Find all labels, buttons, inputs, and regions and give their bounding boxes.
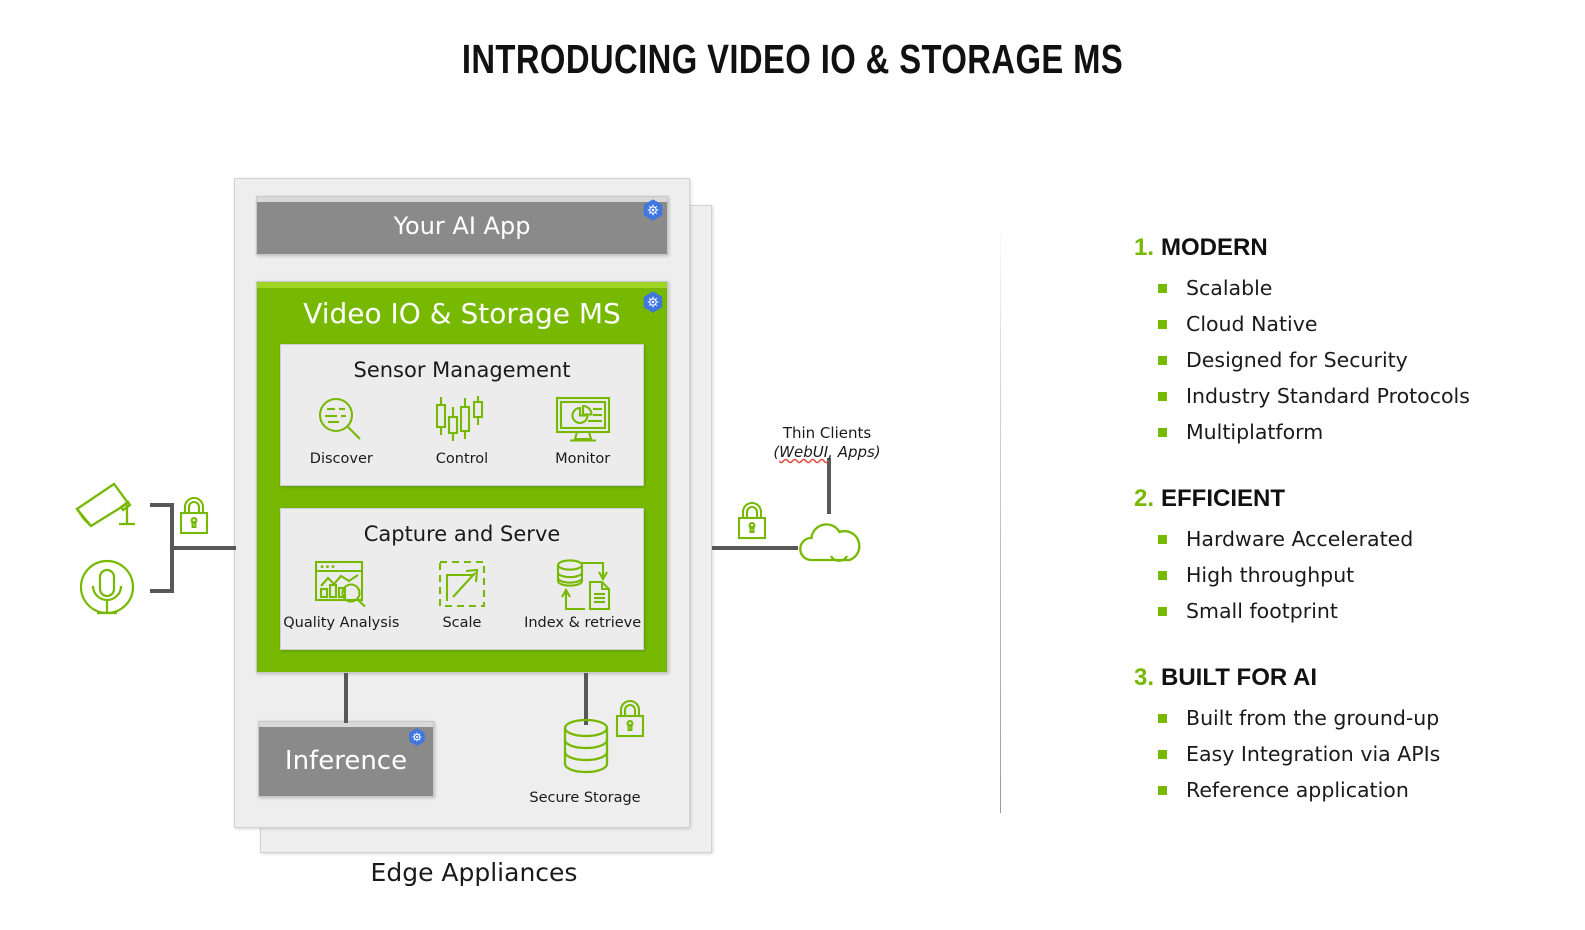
feature-heading-3: 3.BUILT FOR AI bbox=[1134, 666, 1564, 690]
features-column: 1.MODERN Scalable Cloud Native Designed … bbox=[1134, 236, 1564, 808]
list-item-label: Multiplatform bbox=[1186, 420, 1323, 444]
thin-clients-line1: Thin Clients bbox=[727, 424, 927, 443]
connector-inference bbox=[344, 673, 348, 723]
list-item-label: Hardware Accelerated bbox=[1186, 527, 1413, 551]
padlock-icon-storage bbox=[612, 698, 648, 744]
bullet-icon bbox=[1158, 428, 1167, 437]
feature-list-1: Scalable Cloud Native Designed for Secur… bbox=[1134, 270, 1564, 450]
feature-number-3: 3. bbox=[1134, 664, 1154, 691]
feature-label: Index & retrieve bbox=[524, 615, 641, 631]
list-item: Cloud Native bbox=[1134, 306, 1564, 342]
spacer bbox=[1134, 629, 1564, 666]
feature-heading-1: 1.MODERN bbox=[1134, 236, 1564, 260]
list-item: Hardware Accelerated bbox=[1134, 521, 1564, 557]
thin-clients-line2: (WebUI, Apps) bbox=[727, 443, 927, 462]
feature-group-modern: 1.MODERN Scalable Cloud Native Designed … bbox=[1134, 236, 1564, 450]
database-document-icon bbox=[554, 557, 612, 611]
bullet-icon bbox=[1158, 535, 1167, 544]
vertical-divider bbox=[1000, 215, 1001, 813]
monitor-piechart-icon bbox=[554, 393, 612, 447]
bullet-icon bbox=[1158, 571, 1167, 580]
kubernetes-hexagon-badge-app bbox=[641, 198, 665, 222]
your-ai-app-label: Your AI App bbox=[257, 212, 667, 240]
feature-number-2: 2. bbox=[1134, 485, 1154, 512]
feature-monitor[interactable]: Monitor bbox=[523, 393, 643, 467]
capture-and-serve-title: Capture and Serve bbox=[281, 522, 643, 546]
scale-arrow-icon bbox=[437, 557, 487, 611]
list-item-label: Built from the ground-up bbox=[1186, 706, 1439, 730]
feature-label: Control bbox=[436, 451, 488, 467]
bullet-icon bbox=[1158, 607, 1167, 616]
feature-index-retrieve[interactable]: Index & retrieve bbox=[523, 557, 643, 631]
capture-and-serve-panel: Capture and Serve bbox=[280, 508, 644, 650]
feature-discover[interactable]: Discover bbox=[281, 393, 401, 467]
edge-appliances-label: Edge Appliances bbox=[234, 858, 714, 887]
magnifier-search-icon bbox=[315, 393, 367, 447]
feature-label: Scale bbox=[442, 615, 481, 631]
bullet-icon bbox=[1158, 356, 1167, 365]
list-item: Multiplatform bbox=[1134, 414, 1564, 450]
list-item-label: Cloud Native bbox=[1186, 312, 1317, 336]
feature-group-efficient: 2.EFFICIENT Hardware Accelerated High th… bbox=[1134, 487, 1564, 629]
feature-title-1: MODERN bbox=[1161, 234, 1268, 261]
bullet-icon bbox=[1158, 284, 1167, 293]
sensor-management-title: Sensor Management bbox=[281, 358, 643, 382]
list-item: High throughput bbox=[1134, 557, 1564, 593]
secure-storage-label: Secure Storage bbox=[485, 790, 685, 806]
apps-text: , Apps) bbox=[828, 443, 881, 461]
list-item-label: Small footprint bbox=[1186, 599, 1338, 623]
list-item-label: Reference application bbox=[1186, 778, 1409, 802]
list-item: Small footprint bbox=[1134, 593, 1564, 629]
analytics-window-icon bbox=[313, 557, 369, 611]
feature-control[interactable]: Control bbox=[402, 393, 522, 467]
feature-list-3: Built from the ground-up Easy Integratio… bbox=[1134, 700, 1564, 808]
feature-number-1: 1. bbox=[1134, 234, 1154, 261]
list-item-label: Scalable bbox=[1186, 276, 1272, 300]
feature-quality-analysis[interactable]: Quality Analysis bbox=[281, 557, 401, 631]
feature-title-2: EFFICIENT bbox=[1161, 485, 1285, 512]
kubernetes-hexagon-badge-inference bbox=[407, 727, 427, 747]
sensor-management-panel: Sensor Management Discover bbox=[280, 344, 644, 486]
connector-cloud-label bbox=[827, 458, 831, 514]
spacer bbox=[1134, 450, 1564, 487]
inference-label: Inference bbox=[259, 746, 433, 776]
band-highlight bbox=[257, 197, 667, 202]
feature-label: Discover bbox=[310, 451, 373, 467]
feature-heading-2: 2.EFFICIENT bbox=[1134, 487, 1564, 511]
kubernetes-hexagon-badge-ms bbox=[641, 290, 665, 314]
feature-scale[interactable]: Scale bbox=[402, 557, 522, 631]
cloud-icon bbox=[795, 516, 865, 570]
feature-group-built-for-ai: 3.BUILT FOR AI Built from the ground-up … bbox=[1134, 666, 1564, 808]
feature-title-3: BUILT FOR AI bbox=[1161, 664, 1317, 691]
webui-text: WebUI bbox=[779, 443, 828, 461]
list-item-label: Easy Integration via APIs bbox=[1186, 742, 1440, 766]
list-item: Built from the ground-up bbox=[1134, 700, 1564, 736]
feature-list-2: Hardware Accelerated High throughput Sma… bbox=[1134, 521, 1564, 629]
sensor-management-icons: Discover Control bbox=[281, 393, 643, 467]
slide-root: INTRODUCING VIDEO IO & STORAGE MS Your A… bbox=[0, 0, 1585, 930]
your-ai-app-band[interactable]: Your AI App bbox=[256, 196, 668, 255]
list-item: Easy Integration via APIs bbox=[1134, 736, 1564, 772]
bullet-icon bbox=[1158, 786, 1167, 795]
bullet-icon bbox=[1158, 320, 1167, 329]
feature-label: Quality Analysis bbox=[283, 615, 399, 631]
list-item-label: Industry Standard Protocols bbox=[1186, 384, 1470, 408]
capture-and-serve-icons: Quality Analysis Scale bbox=[281, 557, 643, 631]
feature-label: Monitor bbox=[555, 451, 610, 467]
band-highlight bbox=[257, 282, 667, 288]
microphone-icon bbox=[78, 558, 136, 624]
list-item: Industry Standard Protocols bbox=[1134, 378, 1564, 414]
bullet-icon bbox=[1158, 392, 1167, 401]
database-cylinder-icon bbox=[560, 718, 612, 784]
bullet-icon bbox=[1158, 750, 1167, 759]
sliders-candlestick-icon bbox=[434, 393, 490, 447]
padlock-icon-sources bbox=[176, 495, 212, 541]
connector-sources bbox=[170, 546, 236, 550]
video-io-storage-ms-label: Video IO & Storage MS bbox=[257, 297, 667, 330]
thin-clients-label: Thin Clients (WebUI, Apps) bbox=[727, 424, 927, 462]
bullet-icon bbox=[1158, 714, 1167, 723]
list-item: Designed for Security bbox=[1134, 342, 1564, 378]
page-title: INTRODUCING VIDEO IO & STORAGE MS bbox=[159, 36, 1427, 83]
list-item-label: Designed for Security bbox=[1186, 348, 1408, 372]
padlock-icon-thin-clients bbox=[734, 500, 770, 546]
security-camera-icon bbox=[72, 478, 144, 538]
list-item: Scalable bbox=[1134, 270, 1564, 306]
list-item-label: High throughput bbox=[1186, 563, 1354, 587]
list-item: Reference application bbox=[1134, 772, 1564, 808]
connector-thin-clients bbox=[712, 546, 798, 550]
